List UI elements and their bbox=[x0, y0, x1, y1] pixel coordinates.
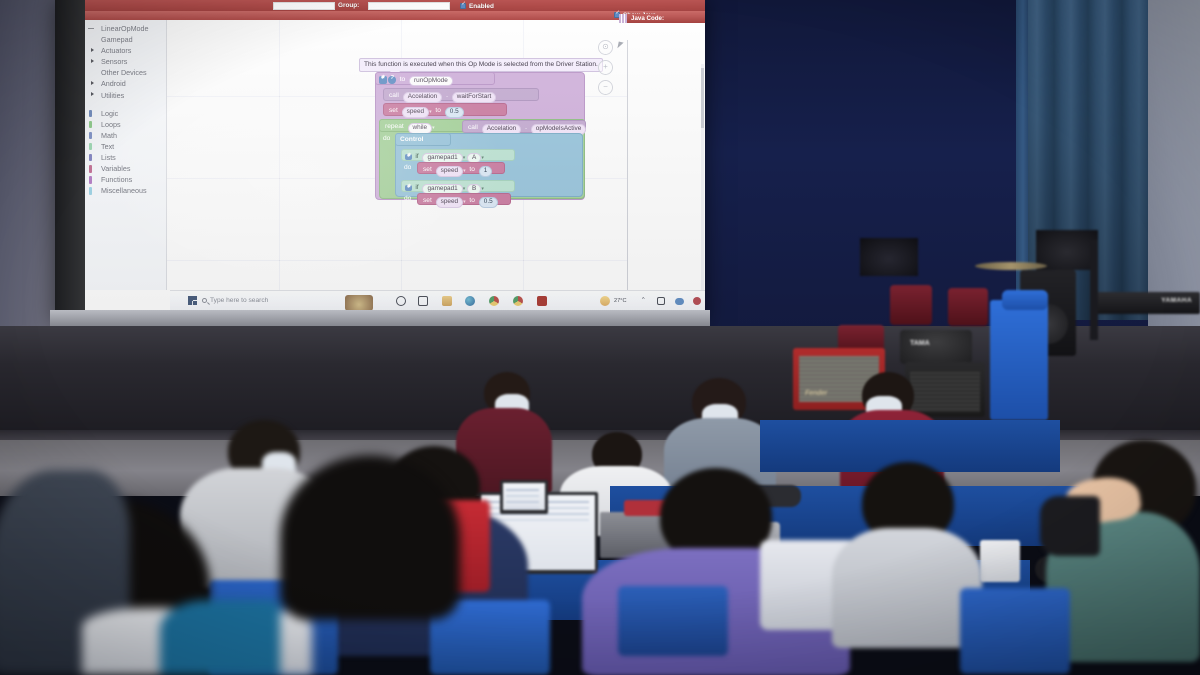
toolbox-item-label: Android bbox=[101, 79, 126, 88]
repeat-verb: repeat bbox=[383, 124, 406, 131]
chevron-right-icon bbox=[91, 48, 94, 52]
toolbox-item-label: Sensors bbox=[101, 57, 127, 66]
control-label: Control bbox=[396, 134, 423, 144]
toolbox-category-variables[interactable]: Variables bbox=[85, 163, 166, 174]
toolbox-item-label: Other Devices bbox=[101, 68, 147, 77]
call-verb: call bbox=[387, 93, 401, 100]
file-explorer-icon[interactable] bbox=[442, 296, 452, 306]
help-icon[interactable] bbox=[388, 76, 396, 84]
opmode-tooltip: This function is executed when this Op M… bbox=[359, 58, 603, 72]
foreground-collar bbox=[160, 600, 280, 675]
sleeve-dark bbox=[1040, 496, 1100, 556]
wall-right bbox=[1148, 0, 1200, 330]
laptop-rear[interactable] bbox=[500, 480, 548, 514]
cable-spool bbox=[980, 540, 1020, 582]
task-view-icon[interactable] bbox=[418, 296, 428, 306]
function-prefix: to bbox=[398, 77, 408, 84]
gear-icon[interactable] bbox=[379, 76, 387, 84]
group-label: Group: bbox=[338, 2, 359, 9]
toolbox-category-text[interactable]: Text bbox=[85, 141, 166, 152]
drum-tom-left bbox=[890, 285, 932, 325]
repeat-call-dot: . bbox=[523, 125, 529, 132]
laney-amp: Laney bbox=[905, 362, 985, 417]
set-variable[interactable]: speed bbox=[436, 197, 463, 208]
call-dot: . bbox=[444, 93, 450, 100]
set-value[interactable]: 0.5 bbox=[479, 197, 498, 208]
edge-icon[interactable] bbox=[465, 296, 475, 306]
call-opmodeisactive-block[interactable]: call Accelation . opModeIsActive bbox=[462, 120, 586, 133]
cymbal-icon bbox=[975, 262, 1047, 270]
canvas-zoom-controls[interactable]: ⊙ + − bbox=[598, 40, 613, 100]
keyboard-brand-label: YAMAHA bbox=[1161, 297, 1192, 304]
if-do-wrap-b: do bbox=[401, 193, 415, 205]
laptop-screen bbox=[503, 483, 545, 510]
foreground-head-mid bbox=[280, 455, 460, 620]
zoom-out-icon[interactable]: − bbox=[598, 80, 613, 95]
if-verb: if bbox=[413, 185, 420, 192]
if-do-verb: do bbox=[401, 162, 411, 171]
drum-brand-label: TAMA bbox=[910, 340, 930, 347]
chevron-right-icon bbox=[91, 81, 94, 85]
weather-icon bbox=[600, 296, 610, 306]
toolbox-category-label: Lists bbox=[101, 153, 116, 162]
if-do-verb: do bbox=[401, 193, 411, 202]
set-value[interactable]: 1 bbox=[479, 166, 493, 177]
blocks-toolbox: LinearOpMode Gamepad Actuators Sensors O… bbox=[85, 20, 167, 290]
set-verb: set bbox=[421, 198, 434, 205]
if-gamepad-a-block[interactable]: if gamepad1▾ A▾ bbox=[401, 149, 515, 161]
set-value[interactable]: 0.5 bbox=[445, 107, 464, 118]
enabled-checkbox[interactable] bbox=[460, 3, 466, 9]
set-to: to bbox=[467, 198, 477, 205]
yamaha-keyboard: YAMAHA bbox=[1096, 292, 1200, 314]
set-verb: set bbox=[387, 108, 400, 115]
toolbox-item-label: Actuators bbox=[101, 46, 131, 55]
gear-icon[interactable] bbox=[405, 154, 412, 161]
set-to: to bbox=[433, 108, 443, 115]
cortana-icon[interactable] bbox=[396, 296, 406, 306]
fender-brand-label: Fender bbox=[805, 390, 827, 397]
zoom-in-icon[interactable]: + bbox=[598, 60, 613, 75]
chair-right bbox=[960, 588, 1070, 674]
toolbox-category-miscellaneous[interactable]: Miscellaneous bbox=[85, 185, 166, 196]
java-code-panel: package org.firstinspires.ftc.teamcode i… bbox=[627, 40, 705, 310]
stacked-stools bbox=[990, 300, 1048, 420]
call-object[interactable]: Accelation bbox=[403, 92, 443, 103]
toolbox-item-sensors[interactable]: Sensors bbox=[85, 56, 166, 67]
mouse-cursor-icon bbox=[617, 42, 623, 50]
function-header-row[interactable]: to runOpMode bbox=[375, 72, 495, 85]
toolbox-category-label: Miscellaneous bbox=[101, 186, 147, 195]
toolbox-item-label: Gamepad bbox=[101, 35, 133, 44]
toolbox-item-label: Utilities bbox=[101, 91, 124, 100]
laney-brand-label: Laney bbox=[913, 394, 938, 403]
repeat-call-verb: call bbox=[466, 125, 480, 132]
toolbox-category-label: Loops bbox=[101, 120, 121, 129]
wallpaper-thumb-icon bbox=[345, 295, 373, 310]
set-to: to bbox=[467, 167, 477, 174]
set-speed-half-block[interactable]: set speed▾ to 0.5 bbox=[417, 193, 511, 205]
antivirus-icon[interactable] bbox=[693, 297, 701, 305]
toolbox-item-android[interactable]: Android bbox=[85, 78, 166, 89]
bass-drum: TAMA bbox=[900, 330, 972, 364]
chrome-icon[interactable] bbox=[489, 296, 499, 306]
control-header[interactable]: Control bbox=[395, 133, 451, 146]
pdf-reader-icon[interactable] bbox=[537, 296, 547, 306]
toolbox-category-logic[interactable]: Logic bbox=[85, 108, 166, 119]
toolbox-category-label: Functions bbox=[101, 175, 132, 184]
set-speed-1-block[interactable]: set speed▾ to 1 bbox=[417, 162, 505, 174]
toolbox-item-gamepad[interactable]: Gamepad bbox=[85, 34, 166, 45]
drum-tom-right bbox=[948, 288, 988, 326]
repeat-do-verb: do bbox=[379, 133, 390, 143]
blocks-workspace: LinearOpMode Gamepad Actuators Sensors O… bbox=[85, 20, 705, 290]
blocks-canvas[interactable]: This function is executed when this Op M… bbox=[167, 20, 627, 290]
java-scrollbar[interactable] bbox=[701, 64, 704, 310]
toolbox-category-label: Text bbox=[101, 142, 114, 151]
set-variable[interactable]: speed bbox=[402, 107, 429, 118]
toolbox-item-other-devices[interactable]: Other Devices bbox=[85, 67, 166, 78]
java-panel-title: Java Code: bbox=[631, 15, 664, 22]
wall-left bbox=[0, 0, 60, 340]
set-speed-block[interactable]: set speed▾ to 0.5 bbox=[383, 103, 507, 116]
temperature-label: 27°C bbox=[614, 298, 627, 304]
if-verb: if bbox=[413, 154, 420, 161]
keyboard-stand bbox=[1090, 240, 1098, 340]
chair-center bbox=[618, 586, 728, 656]
projection-screen-bezel bbox=[55, 0, 85, 325]
chevron-up-icon[interactable]: ^ bbox=[642, 297, 645, 303]
toolbox-category-functions[interactable]: Functions bbox=[85, 174, 166, 185]
gear-icon[interactable] bbox=[405, 185, 412, 192]
toolbox-category-label: Variables bbox=[101, 164, 130, 173]
enabled-label: Enabled bbox=[469, 3, 494, 10]
start-icon[interactable] bbox=[188, 296, 197, 305]
set-variable[interactable]: speed bbox=[436, 166, 463, 177]
onedrive-icon[interactable] bbox=[657, 297, 665, 305]
toolbox-category-loops[interactable]: Loops bbox=[85, 119, 166, 130]
chrome-icon-2[interactable] bbox=[513, 296, 523, 306]
repeat-do-label-wrap: do bbox=[379, 133, 393, 146]
call-method[interactable]: waitForStart bbox=[452, 92, 496, 103]
repeat-while-header[interactable]: repeat while▾ call Accelation . opModeIs… bbox=[379, 119, 585, 132]
call-waitforstart-block[interactable]: call Accelation . waitForStart bbox=[383, 88, 539, 101]
chevron-right-icon bbox=[91, 92, 94, 96]
if-do-wrap-a: do bbox=[401, 162, 415, 174]
toolbox-item-actuators[interactable]: Actuators bbox=[85, 45, 166, 56]
toolbox-item-utilities[interactable]: Utilities bbox=[85, 90, 166, 101]
center-icon[interactable]: ⊙ bbox=[598, 40, 613, 55]
if-gamepad-b-block[interactable]: if gamepad1▾ B▾ bbox=[401, 180, 515, 192]
chevron-right-icon bbox=[91, 59, 94, 63]
search-icon[interactable] bbox=[202, 298, 207, 303]
toolbox-category-label: Logic bbox=[101, 109, 118, 118]
set-verb: set bbox=[421, 167, 434, 174]
windows-taskbar: Type here to search 27°C ^ ◁ ENG 11:45 A… bbox=[170, 290, 705, 310]
toolbox-item-linearopmode[interactable]: LinearOpMode bbox=[85, 23, 166, 34]
opmode-type-select[interactable] bbox=[273, 2, 335, 10]
blocks-toolbar-row bbox=[85, 11, 705, 20]
scene-root: Group: Enabled Show Java LinearOpMode Ga… bbox=[0, 0, 1200, 675]
screen-shelf bbox=[50, 310, 710, 326]
toolbox-item-label: LinearOpMode bbox=[101, 24, 149, 33]
toolbox-category-math[interactable]: Math bbox=[85, 130, 166, 141]
music-stand-secondary-icon bbox=[860, 238, 918, 276]
function-name-field[interactable]: runOpMode bbox=[409, 76, 453, 87]
java-panel-header: Java Code: bbox=[627, 14, 705, 23]
toolbox-category-label: Math bbox=[101, 131, 117, 140]
group-input[interactable] bbox=[368, 2, 450, 10]
toolbox-category-lists[interactable]: Lists bbox=[85, 152, 166, 163]
stool-seat-top bbox=[1002, 290, 1048, 310]
projected-screen-content: Group: Enabled Show Java LinearOpMode Ga… bbox=[85, 0, 705, 310]
cloud-icon[interactable] bbox=[675, 298, 684, 305]
search-input[interactable]: Type here to search bbox=[210, 297, 268, 304]
